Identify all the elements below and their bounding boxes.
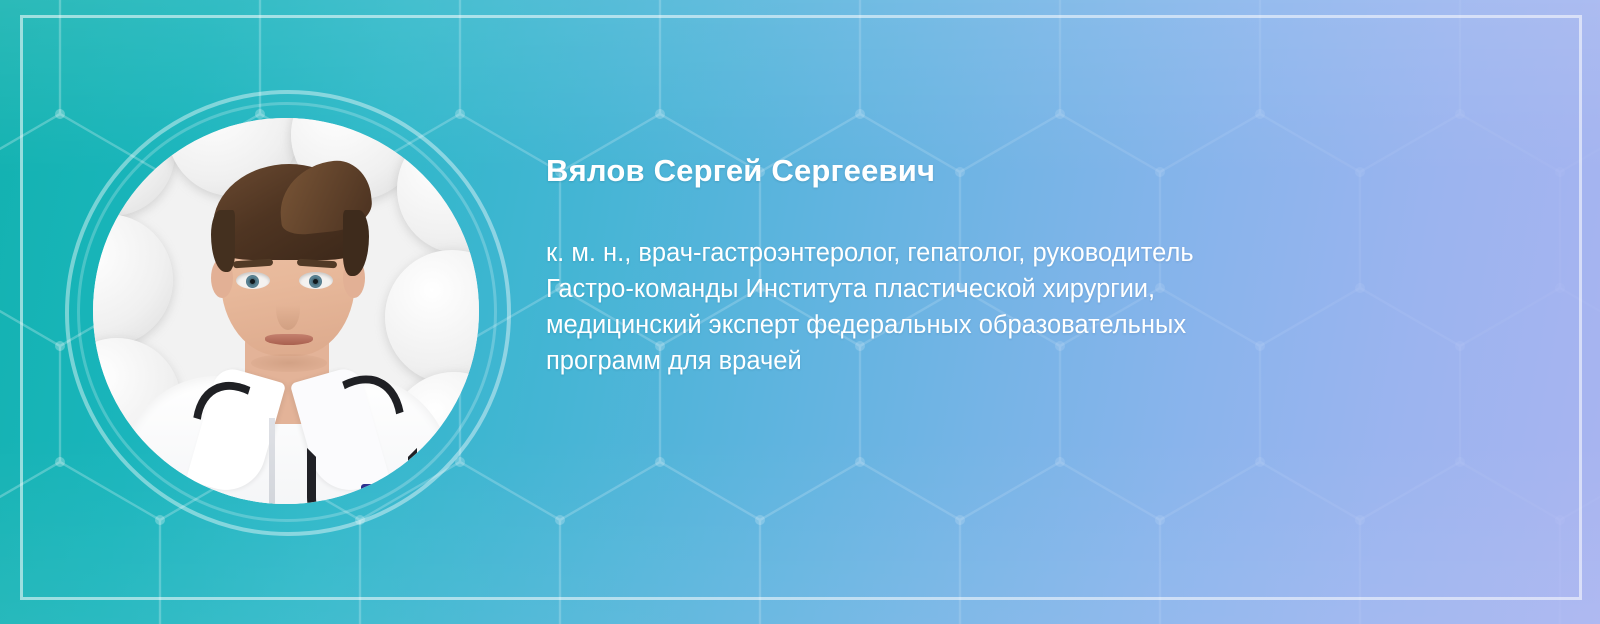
doctor-portrait-circle <box>93 118 479 504</box>
doctor-name: Вялов Сергей Сергеевич <box>546 152 1426 189</box>
pupil-right <box>313 279 318 284</box>
doctor-info-block: Вялов Сергей Сергеевич к. м. н., врач-га… <box>546 152 1426 379</box>
credentials-line: медицинский эксперт федеральных образова… <box>546 307 1426 343</box>
doctor-photo <box>93 118 479 504</box>
doctor-credentials: к. м. н., врач-гастроэнтеролог, гепатоло… <box>546 235 1426 379</box>
nose <box>276 288 300 330</box>
credentials-line: к. м. н., врач-гастроэнтеролог, гепатоло… <box>546 235 1426 271</box>
chin-shadow <box>251 354 327 372</box>
coat-badge <box>361 484 415 504</box>
hair-side-right <box>343 210 369 276</box>
credentials-line: Гастро-команды Института пластической хи… <box>546 271 1426 307</box>
mouth <box>265 334 313 345</box>
doctor-figure <box>93 118 479 504</box>
pupil-left <box>250 279 255 284</box>
doctor-profile-banner: Вялов Сергей Сергеевич к. м. н., врач-га… <box>0 0 1600 624</box>
credentials-line: программ для врачей <box>546 343 1426 379</box>
